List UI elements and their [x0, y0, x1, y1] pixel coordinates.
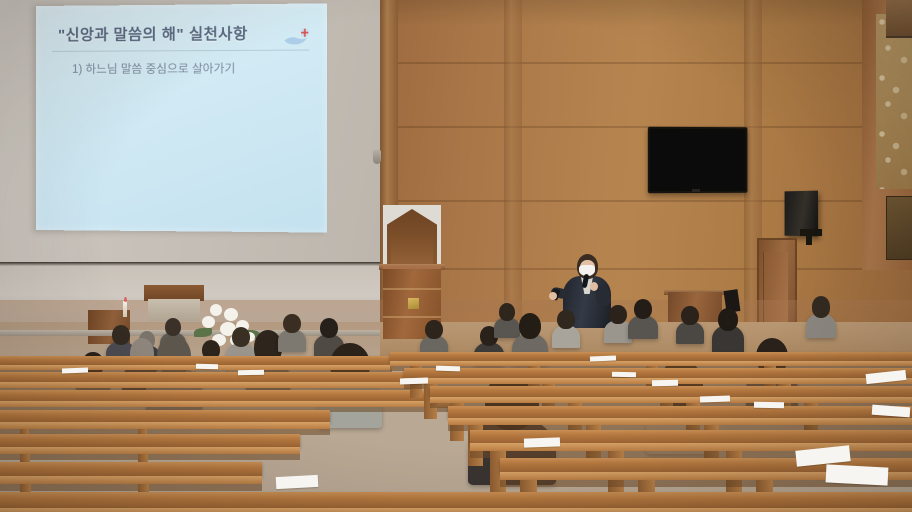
pew-backrest — [0, 462, 262, 476]
pew-seat — [0, 422, 330, 429]
person-head — [519, 313, 541, 339]
wood-seam — [380, 126, 912, 128]
altar-candle — [123, 301, 127, 317]
audience-person — [552, 310, 580, 342]
pew-backrest — [448, 406, 912, 418]
speaker-bracket — [806, 229, 812, 245]
audience-person — [420, 320, 448, 352]
audience-person — [628, 299, 658, 333]
handout-paper — [276, 475, 319, 489]
handout-paper — [754, 402, 784, 409]
handout-paper — [196, 364, 218, 369]
pew-backrest — [404, 368, 912, 378]
slide-bullet-1: 1) 하느님 말씀 중심으로 살아가기 — [72, 60, 235, 77]
pulpit-stripe — [383, 288, 441, 290]
pew-backrest — [0, 434, 300, 447]
presenter-left-hand — [549, 292, 557, 300]
presenter-right-hand — [590, 282, 598, 291]
handout-paper — [238, 370, 264, 375]
handout-paper — [524, 437, 560, 447]
church-lecture-scene: "신앙과 말씀의 해" 실천사항 1) 하느님 말씀 중심으로 살아가기 — [0, 0, 912, 512]
person-head — [283, 314, 300, 333]
handout-paper — [62, 368, 88, 374]
handout-paper — [400, 378, 428, 385]
slide-divider — [52, 50, 309, 52]
tv-mount — [692, 189, 700, 192]
person-head — [609, 305, 626, 324]
person-head — [165, 318, 181, 336]
audience-person — [712, 308, 744, 346]
wood-seam — [380, 200, 912, 202]
pew-backrest — [0, 390, 450, 401]
pulpit-stripe — [383, 316, 441, 318]
person-head — [634, 299, 653, 319]
pew-backrest — [0, 372, 420, 382]
person-head — [425, 320, 442, 339]
decorative-lace-panel — [876, 14, 912, 189]
person-head — [681, 306, 698, 325]
handout-paper — [652, 380, 678, 386]
pew-seat — [448, 418, 912, 425]
pew-shadow — [0, 484, 262, 491]
audience-person — [806, 296, 836, 332]
wall-column — [504, 0, 522, 330]
audience-person — [278, 314, 306, 346]
wood-seam — [380, 268, 912, 270]
pew-seat — [0, 508, 912, 512]
pew-backrest — [0, 410, 330, 422]
pew-backrest — [390, 352, 912, 361]
handout-paper — [590, 356, 616, 362]
wall-mounted-tv — [648, 127, 748, 193]
pew-shadow — [0, 454, 300, 460]
framed-picture — [886, 196, 912, 260]
pew-backrest — [0, 492, 912, 508]
pew-seat — [0, 447, 300, 454]
pew-backrest — [430, 386, 912, 397]
projection-screen: "신앙과 말씀의 해" 실천사항 1) 하느님 말씀 중심으로 살아가기 — [36, 3, 327, 232]
audience-person — [512, 313, 548, 357]
church-logo-icon — [283, 28, 310, 47]
handout-paper — [612, 372, 636, 377]
handout-paper — [826, 464, 889, 485]
person-head — [812, 296, 831, 318]
wood-seam — [380, 62, 912, 64]
audience-person — [676, 306, 704, 338]
pew-seat — [0, 476, 262, 484]
person-head — [320, 318, 339, 338]
wall-sensor-icon — [373, 150, 381, 164]
person-head — [718, 308, 738, 331]
handout-paper — [700, 395, 730, 402]
handout-paper — [436, 366, 460, 372]
slide-title: "신앙과 말씀의 해" 실천사항 — [58, 22, 248, 44]
candle-flame-icon — [124, 297, 127, 302]
person-head — [557, 310, 574, 329]
pulpit-emblem — [408, 298, 419, 309]
wood-wall-panel — [380, 0, 912, 330]
upper-window — [886, 0, 912, 38]
